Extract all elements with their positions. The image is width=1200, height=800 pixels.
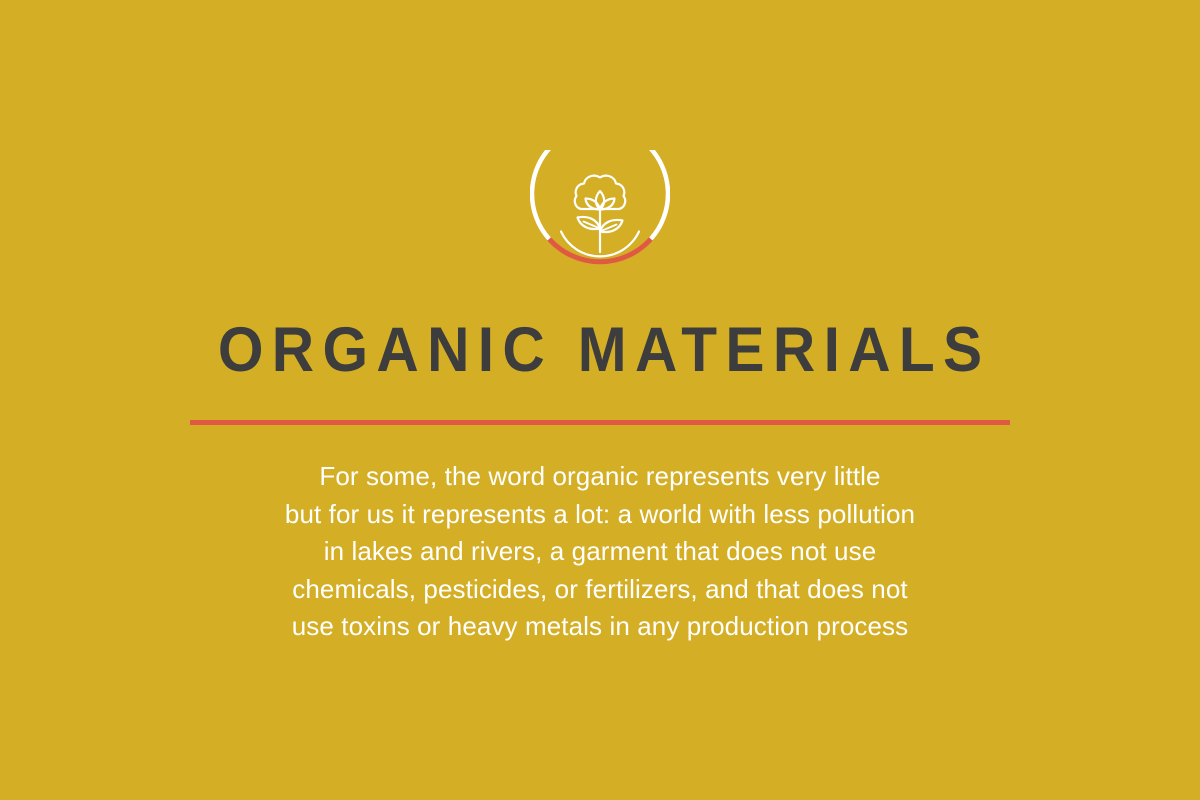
body-line: use toxins or heavy metals in any produc… xyxy=(0,608,1200,646)
title-divider-rule xyxy=(190,420,1010,425)
body-line: chemicals, pesticides, or fertilizers, a… xyxy=(0,571,1200,609)
body-line: but for us it represents a lot: a world … xyxy=(0,496,1200,534)
cotton-plant-in-circle-icon xyxy=(530,150,670,290)
organic-emblem xyxy=(530,150,670,290)
body-line: For some, the word organic represents ve… xyxy=(0,458,1200,496)
organic-materials-poster: ORGANIC MATERIALS For some, the word org… xyxy=(0,0,1200,800)
body-copy: For some, the word organic represents ve… xyxy=(0,458,1200,646)
page-title: ORGANIC MATERIALS xyxy=(42,314,1158,386)
body-line: in lakes and rivers, a garment that does… xyxy=(0,533,1200,571)
